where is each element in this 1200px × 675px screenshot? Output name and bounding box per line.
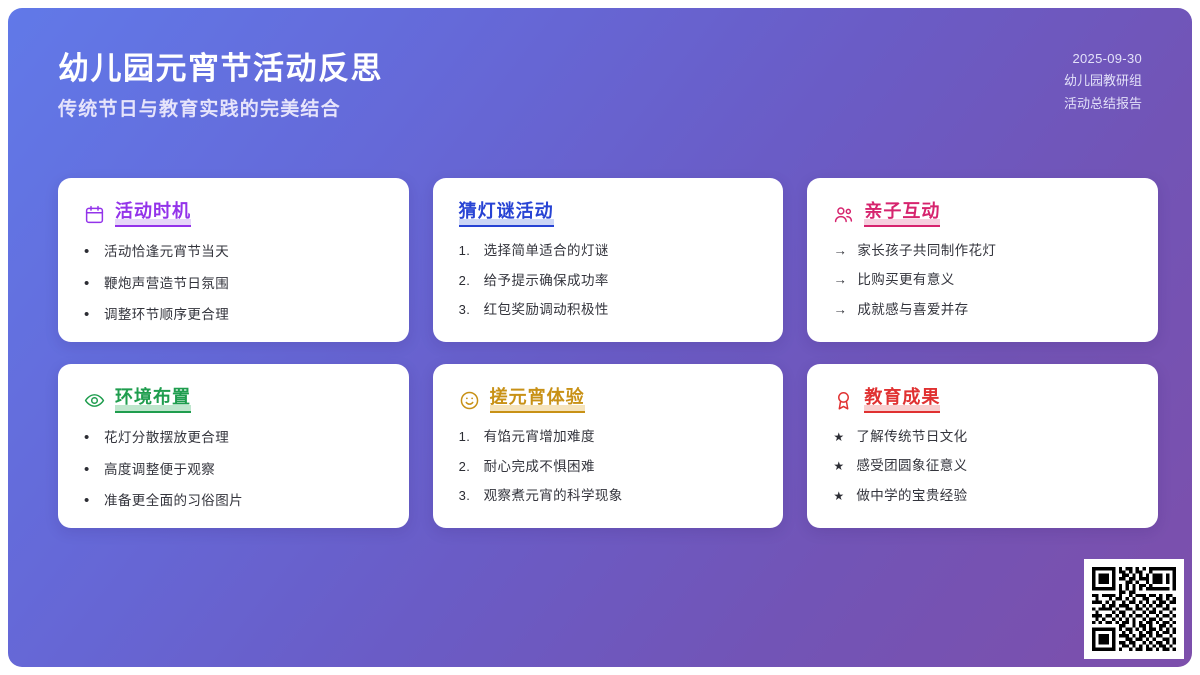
card-list: 1.有馅元宵增加难度2.耐心完成不惧困难3.观察煮元宵的科学现象	[459, 427, 758, 507]
award-icon	[833, 390, 854, 411]
card-list: ★了解传统节日文化★感受团圆象征意义★做中学的宝贵经验	[833, 427, 1132, 506]
list-item: •活动恰逢元宵节当天	[84, 241, 383, 263]
meta-doc-type: 活动总结报告	[1064, 93, 1142, 115]
list-marker: 2.	[459, 458, 475, 477]
list-item-text: 准备更全面的习俗图片	[104, 491, 243, 511]
list-item-text: 红包奖励调动积极性	[484, 300, 609, 320]
card-title: 搓元宵体验	[490, 388, 585, 413]
list-item-text: 活动恰逢元宵节当天	[104, 242, 229, 262]
card-lantern-riddles: 猜灯谜活动1.选择简单适合的灯谜2.给予提示确保成功率3.红包奖励调动积极性	[433, 178, 784, 342]
card-environment-setup: 环境布置•花灯分散摆放更合理•高度调整便于观察•准备更全面的习俗图片	[58, 364, 409, 528]
list-item: •鞭炮声营造节日氛围	[84, 273, 383, 295]
card-title: 环境布置	[115, 388, 191, 413]
card-header: 环境布置	[84, 388, 383, 413]
list-item-text: 家长孩子共同制作花灯	[857, 241, 996, 261]
list-marker: 1.	[459, 428, 475, 447]
meta-date: 2025-09-30	[1064, 48, 1142, 70]
header-meta: 2025-09-30 幼儿园教研组 活动总结报告	[1064, 48, 1142, 115]
card-list: •活动恰逢元宵节当天•鞭炮声营造节日氛围•调整环节顺序更合理	[84, 241, 383, 326]
list-item-text: 了解传统节日文化	[856, 427, 967, 447]
list-item: •调整环节顺序更合理	[84, 304, 383, 326]
page-subtitle: 传统节日与教育实践的完美结合	[58, 98, 383, 123]
card-list: 1.选择简单适合的灯谜2.给予提示确保成功率3.红包奖励调动积极性	[459, 241, 758, 321]
list-item: 3.观察煮元宵的科学现象	[459, 486, 758, 506]
card-list: •花灯分散摆放更合理•高度调整便于观察•准备更全面的习俗图片	[84, 427, 383, 512]
list-item-text: 给予提示确保成功率	[484, 271, 609, 291]
list-item: ★了解传统节日文化	[833, 427, 1132, 447]
slide-header: 幼儿园元宵节活动反思 传统节日与教育实践的完美结合 2025-09-30 幼儿园…	[58, 48, 1142, 122]
smiley-icon	[459, 390, 480, 411]
card-header: 亲子互动	[833, 202, 1132, 227]
card-title: 亲子互动	[864, 202, 940, 227]
calendar-icon	[84, 204, 105, 225]
card-title: 猜灯谜活动	[459, 202, 554, 227]
list-marker: →	[833, 300, 848, 320]
list-marker: •	[84, 304, 95, 326]
list-marker: 3.	[459, 301, 475, 320]
slide-canvas: 幼儿园元宵节活动反思 传统节日与教育实践的完美结合 2025-09-30 幼儿园…	[8, 8, 1192, 667]
list-item: •高度调整便于观察	[84, 459, 383, 481]
list-marker: 3.	[459, 487, 475, 506]
card-grid: 活动时机•活动恰逢元宵节当天•鞭炮声营造节日氛围•调整环节顺序更合理猜灯谜活动1…	[58, 178, 1158, 528]
card-title: 教育成果	[864, 388, 940, 413]
list-item-text: 感受团圆象征意义	[856, 456, 967, 476]
eye-icon	[84, 390, 105, 411]
card-title: 活动时机	[115, 202, 191, 227]
list-item-text: 做中学的宝贵经验	[856, 486, 967, 506]
list-item: 2.给予提示确保成功率	[459, 271, 758, 291]
page-title: 幼儿园元宵节活动反思	[58, 50, 383, 89]
users-icon	[833, 204, 854, 225]
qr-code-icon	[1092, 567, 1176, 651]
list-item: →成就感与喜爱并存	[833, 300, 1132, 320]
card-header: 搓元宵体验	[459, 388, 758, 413]
card-header: 活动时机	[84, 202, 383, 227]
list-marker: →	[833, 270, 848, 290]
list-item: →比购买更有意义	[833, 270, 1132, 290]
list-marker: •	[84, 241, 95, 263]
list-item: 1.选择简单适合的灯谜	[459, 241, 758, 261]
list-item-text: 观察煮元宵的科学现象	[484, 486, 623, 506]
list-item-text: 调整环节顺序更合理	[104, 305, 229, 325]
list-marker: •	[84, 490, 95, 512]
card-header: 教育成果	[833, 388, 1132, 413]
list-item-text: 高度调整便于观察	[104, 460, 215, 480]
card-activity-timing: 活动时机•活动恰逢元宵节当天•鞭炮声营造节日氛围•调整环节顺序更合理	[58, 178, 409, 342]
list-marker: ★	[833, 458, 847, 475]
list-marker: 1.	[459, 242, 475, 261]
card-educational-outcomes: 教育成果★了解传统节日文化★感受团圆象征意义★做中学的宝贵经验	[807, 364, 1158, 528]
card-header: 猜灯谜活动	[459, 202, 758, 227]
list-marker: •	[84, 427, 95, 449]
list-marker: →	[833, 241, 848, 261]
card-list: →家长孩子共同制作花灯→比购买更有意义→成就感与喜爱并存	[833, 241, 1132, 320]
list-item-text: 花灯分散摆放更合理	[104, 428, 229, 448]
qr-code-container[interactable]	[1084, 559, 1184, 659]
list-item-text: 选择简单适合的灯谜	[484, 241, 609, 261]
list-marker: •	[84, 273, 95, 295]
list-item: 1.有馅元宵增加难度	[459, 427, 758, 447]
card-yuanxiao-experience: 搓元宵体验1.有馅元宵增加难度2.耐心完成不惧困难3.观察煮元宵的科学现象	[433, 364, 784, 528]
list-marker: ★	[833, 429, 847, 446]
list-item: →家长孩子共同制作花灯	[833, 241, 1132, 261]
list-item: 2.耐心完成不惧困难	[459, 457, 758, 477]
list-item: •花灯分散摆放更合理	[84, 427, 383, 449]
list-item: •准备更全面的习俗图片	[84, 490, 383, 512]
meta-org: 幼儿园教研组	[1064, 70, 1142, 92]
list-item: 3.红包奖励调动积极性	[459, 300, 758, 320]
list-item-text: 耐心完成不惧困难	[484, 457, 595, 477]
list-item-text: 鞭炮声营造节日氛围	[104, 274, 229, 294]
list-marker: •	[84, 459, 95, 481]
list-item-text: 成就感与喜爱并存	[857, 300, 968, 320]
list-item-text: 有馅元宵增加难度	[484, 427, 595, 447]
list-marker: 2.	[459, 272, 475, 291]
list-item-text: 比购买更有意义	[857, 270, 954, 290]
title-block: 幼儿园元宵节活动反思 传统节日与教育实践的完美结合	[58, 48, 383, 122]
list-item: ★感受团圆象征意义	[833, 456, 1132, 476]
list-item: ★做中学的宝贵经验	[833, 486, 1132, 506]
list-marker: ★	[833, 488, 847, 505]
card-parent-child-interaction: 亲子互动→家长孩子共同制作花灯→比购买更有意义→成就感与喜爱并存	[807, 178, 1158, 342]
